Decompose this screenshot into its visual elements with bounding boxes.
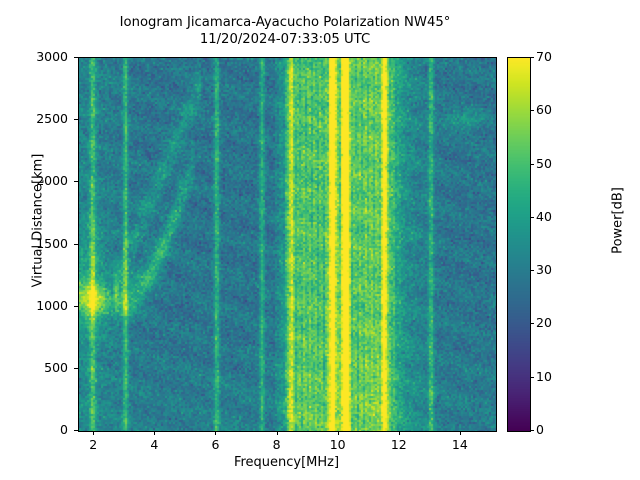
colorbar-tick-label: 0 <box>536 422 544 437</box>
colorbar-gradient <box>508 58 530 431</box>
colorbar-tick-mark <box>530 377 534 378</box>
title-line-1: Ionogram Jicamarca-Ayacucho Polarization… <box>120 15 451 30</box>
x-tick-label: 6 <box>195 437 235 452</box>
colorbar-tick-label: 50 <box>536 156 552 171</box>
x-tick-label: 14 <box>440 437 480 452</box>
x-tick-label: 8 <box>257 437 297 452</box>
colorbar-tick-mark <box>530 110 534 111</box>
colorbar-tick-label: 60 <box>536 102 552 117</box>
colorbar-tick-mark <box>530 270 534 271</box>
colorbar-tick-label: 10 <box>536 369 552 384</box>
y-tick-mark <box>74 306 78 307</box>
x-tick-mark <box>215 431 216 435</box>
x-tick-mark <box>93 431 94 435</box>
colorbar-tick-label: 40 <box>536 209 552 224</box>
x-tick-label: 12 <box>379 437 419 452</box>
y-tick-mark <box>74 119 78 120</box>
colorbar-tick-label: 20 <box>536 315 552 330</box>
colorbar-tick-mark <box>530 164 534 165</box>
y-tick-mark <box>74 430 78 431</box>
x-tick-mark <box>399 431 400 435</box>
colorbar-tick-mark <box>530 430 534 431</box>
y-tick-label: 500 <box>0 360 68 375</box>
colorbar-tick-mark <box>530 323 534 324</box>
y-axis-label: Virtual Distance[km] <box>31 101 46 341</box>
y-tick-label: 0 <box>0 422 68 437</box>
x-tick-mark <box>277 431 278 435</box>
x-tick-mark <box>338 431 339 435</box>
y-tick-mark <box>74 57 78 58</box>
x-tick-mark <box>154 431 155 435</box>
title-line-2: 11/20/2024-07:33:05 UTC <box>0 31 570 48</box>
ionogram-heatmap-image <box>79 58 496 431</box>
x-tick-label: 10 <box>318 437 358 452</box>
y-tick-mark <box>74 368 78 369</box>
x-tick-label: 2 <box>73 437 113 452</box>
y-tick-mark <box>74 181 78 182</box>
colorbar-tick-mark <box>530 217 534 218</box>
y-tick-label: 3000 <box>0 49 68 64</box>
colorbar-tick-label: 70 <box>536 49 552 64</box>
colorbar-tick-label: 30 <box>536 262 552 277</box>
y-tick-mark <box>74 244 78 245</box>
x-tick-mark <box>460 431 461 435</box>
colorbar-label: Power[dB] <box>611 101 626 341</box>
x-tick-label: 4 <box>134 437 174 452</box>
colorbar <box>507 57 531 432</box>
page-title: Ionogram Jicamarca-Ayacucho Polarization… <box>0 14 570 48</box>
colorbar-tick-mark <box>530 57 534 58</box>
x-axis-label: Frequency[MHz] <box>78 455 495 470</box>
ionogram-heatmap-axes <box>78 57 497 432</box>
